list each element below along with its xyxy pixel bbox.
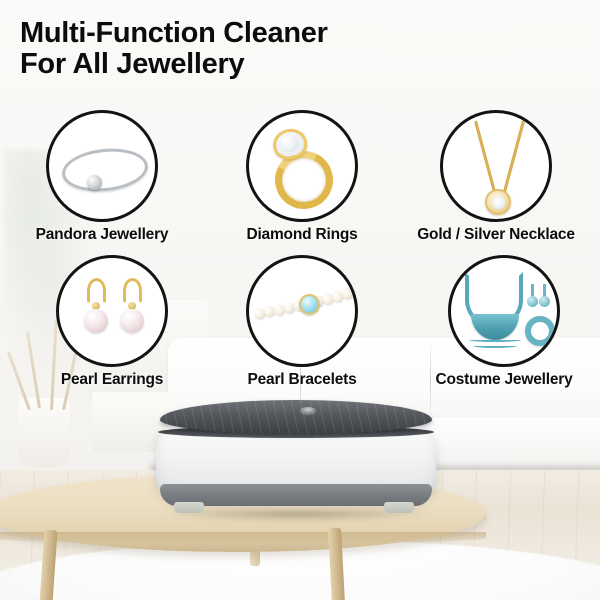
device-foot-right (384, 502, 414, 513)
pearl-bracelet-icon (249, 258, 355, 364)
feature-circle (440, 110, 552, 222)
feature-label: Pearl Bracelets (220, 371, 384, 389)
page-title: Multi-Function Cleaner For All Jewellery (20, 18, 580, 81)
feature-circle (46, 110, 158, 222)
bangle-bracelet-icon (49, 113, 155, 219)
feature-label: Pandora Jewellery (20, 226, 184, 244)
necklace-pendant-icon (443, 113, 549, 219)
product-banner: Multi-Function Cleaner For All Jewellery… (0, 0, 600, 600)
costume-jewellery-set-icon (451, 258, 557, 364)
feature-label: Costume Jewellery (406, 371, 600, 389)
ultrasonic-cleaner-device (146, 398, 446, 516)
diamond-ring-icon (249, 113, 355, 219)
feature-label: Diamond Rings (220, 226, 384, 244)
title-line-1: Multi-Function Cleaner (20, 18, 580, 49)
feature-label: Pearl Earrings (30, 371, 194, 389)
device-foot-left (174, 502, 204, 513)
feature-circle (246, 255, 358, 367)
device-lid (160, 400, 432, 434)
feature-circle (56, 255, 168, 367)
feature-diamond-rings: Diamond Rings (246, 110, 358, 244)
feature-circle (448, 255, 560, 367)
title-line-2: For All Jewellery (20, 49, 580, 80)
feature-pearl-bracelets: Pearl Bracelets (246, 255, 358, 389)
pearl-earrings-icon (59, 258, 165, 364)
feature-label: Gold / Silver Necklace (398, 226, 594, 244)
power-button-icon[interactable] (300, 407, 316, 414)
feature-costume-jewellery: Costume Jewellery (448, 255, 560, 389)
feature-pandora-jewellery: Pandora Jewellery (46, 110, 158, 244)
feature-pearl-earrings: Pearl Earrings (56, 255, 168, 389)
feature-gold-silver-necklace: Gold / Silver Necklace (440, 110, 552, 244)
feature-circle (246, 110, 358, 222)
